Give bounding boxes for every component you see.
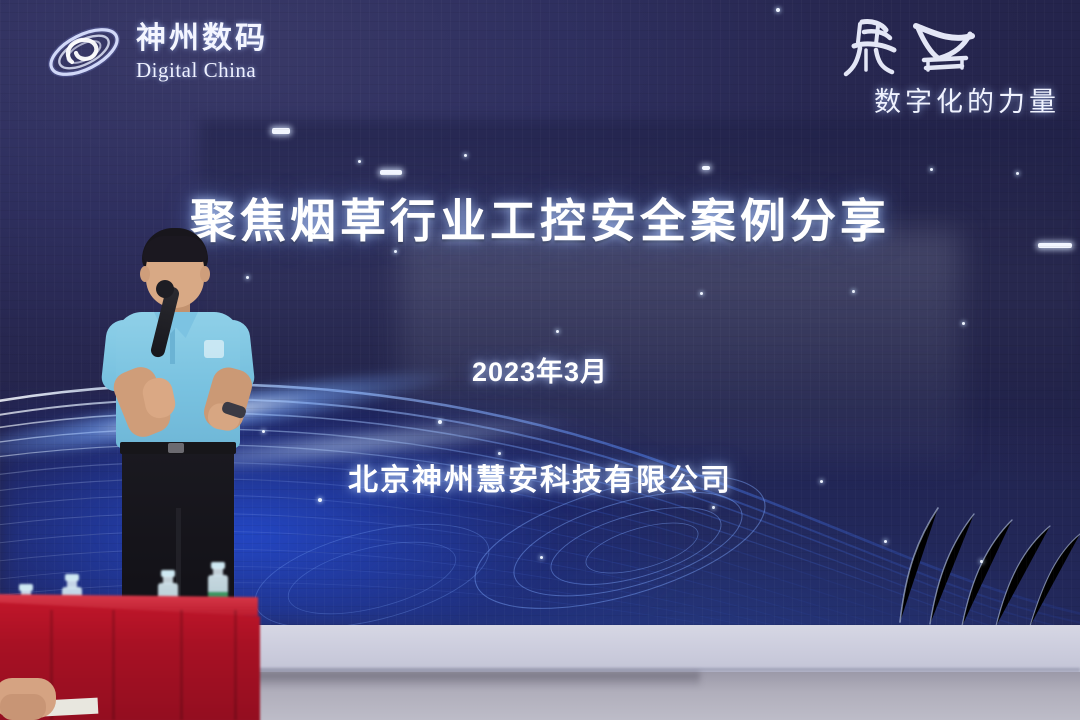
table-cloth-fold xyxy=(180,610,183,720)
brand-name-en: Digital China xyxy=(136,60,268,81)
attendee-forearm xyxy=(0,694,46,720)
sparkle-particle xyxy=(438,420,442,424)
sparkle-particle xyxy=(852,290,855,293)
digital-china-logo: 神州数码 Digital China xyxy=(42,16,268,88)
sparkle-particle xyxy=(556,330,559,333)
sparkle-particle xyxy=(980,560,983,563)
presenter-belt-buckle xyxy=(168,443,184,453)
sparkle-particle xyxy=(464,154,467,157)
sparkle-particle xyxy=(712,506,715,509)
brand-name-cn: 神州数码 xyxy=(136,24,268,54)
presenter xyxy=(96,228,276,628)
sparkle-particle xyxy=(358,160,361,163)
juhe-calligraphy-icon xyxy=(820,12,1060,84)
presenter-hair-fringe xyxy=(143,236,207,262)
sparkle-particle xyxy=(540,556,543,559)
event-logo: 数字化的力量 xyxy=(820,12,1060,119)
sparkle-particle xyxy=(1016,172,1019,175)
digital-china-wordmark: 神州数码 Digital China xyxy=(136,24,268,81)
sparkle-particle xyxy=(776,8,780,12)
conference-stage-photo: 聚焦烟草行业工控安全案例分享 2023年3月 北京神州慧安科技有限公司 神州数码… xyxy=(0,0,1080,720)
sparkle-particle xyxy=(884,540,887,543)
sparkle-particle xyxy=(930,168,933,171)
presenter-shirt-logo xyxy=(204,340,224,358)
event-slogan: 数字化的力量 xyxy=(820,80,1060,119)
presenter-ear-right xyxy=(200,266,210,282)
sparkle-particle xyxy=(700,292,703,295)
light-dash xyxy=(702,166,710,170)
sparkle-particle xyxy=(962,322,965,325)
digital-china-swirl-icon xyxy=(42,16,126,88)
presenter-ear-left xyxy=(140,266,150,282)
table-cloth-fold xyxy=(234,610,237,720)
table-cloth-fold xyxy=(112,610,115,720)
light-dash xyxy=(380,170,402,175)
light-dash xyxy=(272,128,290,134)
